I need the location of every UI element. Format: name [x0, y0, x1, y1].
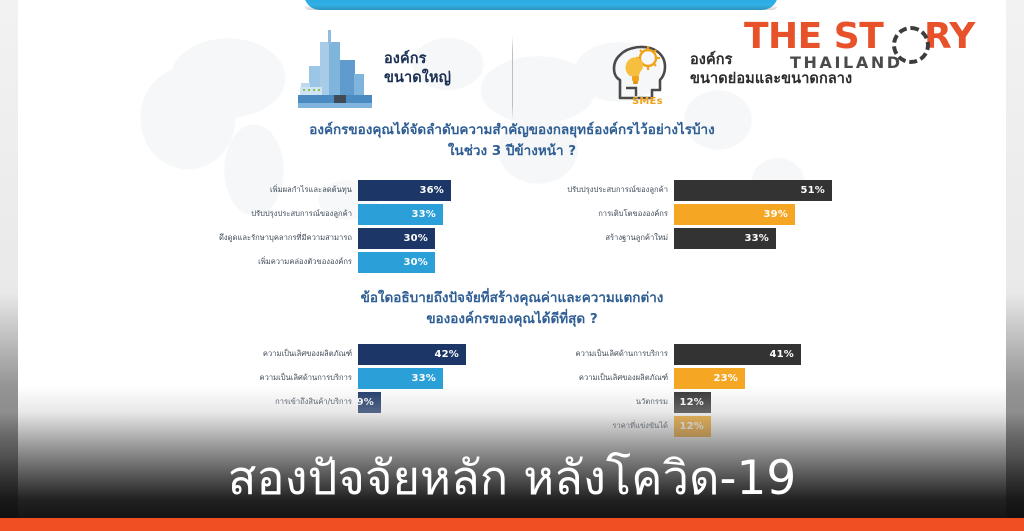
window-dot [313, 89, 315, 91]
chart-bar: 41% [674, 344, 801, 365]
tower-spire [328, 30, 331, 44]
chart-bar: 30% [358, 252, 435, 273]
question-two-line1: ข้อใดอธิบายถึงปัจจัยที่สร้างคุณค่าและควา… [18, 288, 1006, 309]
chart-bar-value: 23% [713, 373, 745, 384]
chart-bar-value: 36% [419, 185, 451, 196]
bottom-orange-bar [0, 518, 1024, 531]
header-divider [512, 36, 513, 120]
chart-bar-value: 30% [403, 233, 435, 244]
chart-bar-value: 42% [434, 349, 466, 360]
sme-badge-label: SMEs [632, 96, 663, 107]
logo-wordmark-b: RY [924, 16, 975, 57]
the-story-thailand-logo: THE ST RY THAILAND [744, 16, 990, 78]
infographic-screenshot: องค์กร ขนาดใหญ่ [0, 0, 1024, 531]
tower-mid [340, 60, 355, 96]
chart-bar-row: เพิ่มความคล่องตัวขององค์กร30% [204, 252, 494, 273]
tower-right [354, 74, 364, 96]
chart-bar-label: เพิ่มผลกำไรและลดต้นทุน [204, 180, 358, 201]
chart-bar-row: ปรับปรุงประสบการณ์ของลูกค้า51% [538, 180, 838, 201]
top-blue-banner [304, 0, 778, 10]
chart-bar-label: เพิ่มความคล่องตัวขององค์กร [204, 252, 358, 273]
chart-bar-label: ดึงดูดและรักษาบุคลากรที่มีความสามารถ [204, 228, 358, 249]
segment-large-organization: องค์กร ขนาดใหญ่ [298, 30, 451, 108]
chart-bar-value: 51% [800, 185, 832, 196]
chart-bar: 51% [674, 180, 832, 201]
chart-bar-row: ปรับปรุงประสบการณ์ของลูกค้า33% [204, 204, 494, 225]
chart-bar-value: 33% [411, 209, 443, 220]
chart-bar-value: 39% [763, 209, 795, 220]
question-two-line2: ขององค์กรของคุณได้ดีที่สุด ? [18, 309, 1006, 330]
chart-bar-value: 33% [744, 233, 776, 244]
chart-bar-label: การเติบโตขององค์กร [538, 204, 674, 225]
chart-large-org-strategy: เพิ่มผลกำไรและลดต้นทุน36%ปรับปรุงประสบกา… [204, 180, 494, 276]
chart-bar: 42% [358, 344, 466, 365]
building-ground [298, 103, 372, 108]
question-one-line2: ในช่วง 3 ปีข้างหน้า ? [18, 141, 1006, 162]
window-dot [318, 89, 320, 91]
chart-bar-row: ดึงดูดและรักษาบุคลากรที่มีความสามารถ30% [204, 228, 494, 249]
segment-large-label: องค์กร ขนาดใหญ่ [384, 50, 451, 87]
window-dot [308, 89, 310, 91]
chart-bar-label: ปรับปรุงประสบการณ์ของลูกค้า [538, 180, 674, 201]
logo-wordmark-a: THE ST [744, 16, 883, 57]
chart-bar-value: 33% [411, 373, 443, 384]
window-dot [303, 89, 305, 91]
question-one-line1: องค์กรของคุณได้จัดลำดับความสำคัญของกลยุท… [18, 120, 1006, 141]
chart-bar-value: 30% [403, 257, 435, 268]
skyscraper-icon [298, 30, 372, 108]
segment-large-line2: ขนาดใหญ่ [384, 69, 451, 88]
chart-bar: 33% [674, 228, 776, 249]
chart-bar-row: ความเป็นเลิศของผลิตภัณฑ์42% [204, 344, 494, 365]
sme-head-lightbulb-icon: SMEs [602, 32, 678, 108]
chart-bar-value: 41% [769, 349, 801, 360]
bottom-caption-overlay: สองปัจจัยหลัก หลังโควิด-19 [0, 386, 1024, 531]
chart-bar-label: ความเป็นเลิศด้านการบริการ [538, 344, 674, 365]
chart-bar-row: ความเป็นเลิศด้านการบริการ41% [538, 344, 838, 365]
chart-sme-strategy: ปรับปรุงประสบการณ์ของลูกค้า51%การเติบโตข… [538, 180, 838, 252]
chart-bar: 36% [358, 180, 451, 201]
chart-bar-label: ความเป็นเลิศของผลิตภัณฑ์ [204, 344, 358, 365]
question-two: ข้อใดอธิบายถึงปัจจัยที่สร้างคุณค่าและควา… [18, 288, 1006, 330]
logo-subtitle: THAILAND [790, 53, 903, 72]
chart-bar-row: เพิ่มผลกำไรและลดต้นทุน36% [204, 180, 494, 201]
chart-bar-row: สร้างฐานลูกค้าใหม่33% [538, 228, 838, 249]
chart-bar: 33% [358, 204, 443, 225]
chart-bar-label: สร้างฐานลูกค้าใหม่ [538, 228, 674, 249]
chart-bar-label: ปรับปรุงประสบการณ์ของลูกค้า [204, 204, 358, 225]
question-one: องค์กรของคุณได้จัดลำดับความสำคัญของกลยุท… [18, 120, 1006, 162]
segment-large-line1: องค์กร [384, 50, 451, 69]
chart-bar-row: การเติบโตขององค์กร39% [538, 204, 838, 225]
banner-shadow [304, 5, 778, 10]
chart-bar: 30% [358, 228, 435, 249]
building-entrance [334, 95, 346, 103]
caption-headline: สองปัจจัยหลัก หลังโควิด-19 [0, 454, 1024, 503]
chart-bar: 39% [674, 204, 795, 225]
